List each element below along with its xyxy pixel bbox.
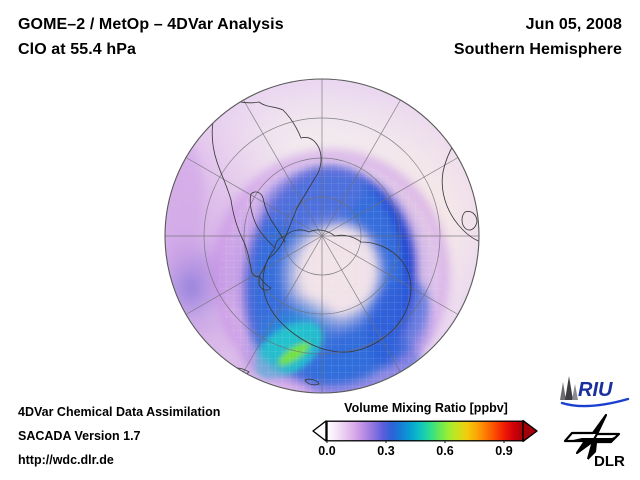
credit-line-model: 4DVar Chemical Data Assimilation (18, 400, 318, 424)
colorbar-graphic (311, 419, 539, 443)
colorbar-tick-0: 0.0 (318, 444, 335, 458)
colorbar-right-arrow (523, 421, 537, 442)
riu-towers-icon (560, 376, 578, 400)
colorbar-tick-3: 0.9 (495, 444, 512, 458)
colorbar-gradient (327, 421, 523, 441)
header-right-block: Jun 05, 2008 Southern Hemisphere (322, 12, 622, 62)
colorbar-title: Volume Mixing Ratio [ppbv] (313, 400, 539, 416)
colorbar: Volume Mixing Ratio [ppbv] (311, 400, 539, 472)
colorbar-tick-2: 0.6 (436, 444, 453, 458)
hemisphere-label: Southern Hemisphere (322, 37, 622, 62)
date-label: Jun 05, 2008 (322, 12, 622, 37)
colorbar-tick-1: 0.3 (377, 444, 394, 458)
colorbar-left-arrow (313, 421, 326, 441)
dlr-wordmark: DLR (594, 453, 625, 470)
colorbar-tick-labels: 0.0 0.3 0.6 0.9 (311, 444, 539, 464)
footer-credits: 4DVar Chemical Data Assimilation SACADA … (18, 400, 318, 472)
riu-wordmark: RIU (578, 379, 613, 401)
credit-line-url[interactable]: http://wdc.dlr.de (18, 448, 318, 472)
credit-line-version: SACADA Version 1.7 (18, 424, 318, 448)
dlr-logo: DLR (562, 412, 634, 470)
riu-logo: RIU (556, 374, 634, 408)
globe-map (163, 78, 481, 394)
